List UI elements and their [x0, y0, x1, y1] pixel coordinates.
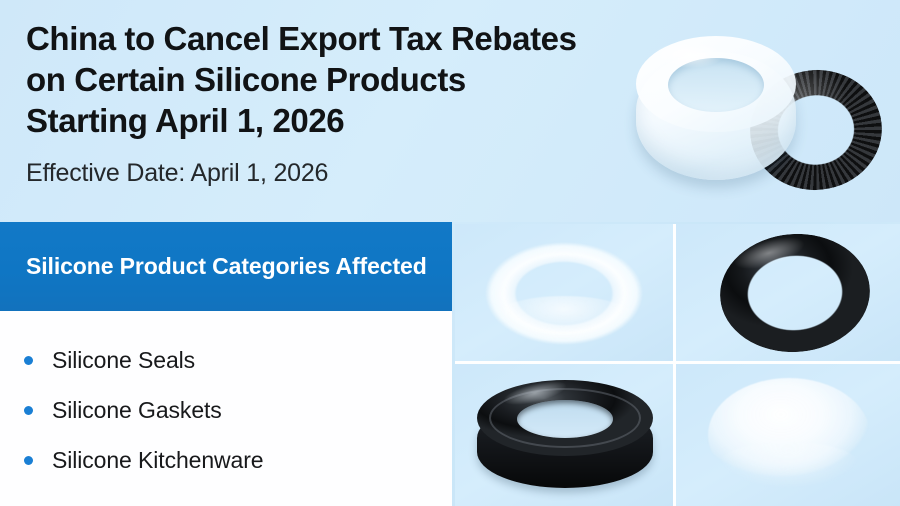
list-item: Silicone Kitchenware: [0, 435, 452, 485]
infographic-banner: China to Cancel Export Tax Rebates on Ce…: [0, 0, 900, 506]
categories-banner-title: Silicone Product Categories Affected: [26, 253, 427, 280]
headline-line-3: Starting April 1, 2026: [26, 100, 646, 141]
headline-line-2: on Certain Silicone Products: [26, 59, 646, 100]
grid-divider-horizontal: [455, 361, 900, 364]
black-oil-seal-image: [477, 380, 653, 492]
product-cell-translucent-silicone-disc: [676, 364, 900, 506]
bullet-dot-icon: [24, 456, 33, 465]
headline-line-1: China to Cancel Export Tax Rebates: [26, 18, 646, 59]
categories-list-panel: Silicone Seals Silicone Gaskets Silicone…: [0, 311, 452, 506]
category-label-gaskets: Silicone Gaskets: [52, 397, 222, 424]
hero-product-photo: [630, 12, 895, 212]
sleeve-highlight: [654, 42, 724, 68]
hero-band: China to Cancel Export Tax Rebates on Ce…: [0, 0, 900, 222]
translucent-silicone-sleeve-image: [636, 36, 796, 184]
oil-seal-bore: [517, 400, 613, 438]
category-label-seals: Silicone Seals: [52, 347, 195, 374]
product-cell-translucent-silicone-ring: [455, 224, 673, 361]
grid-divider-vertical: [673, 224, 676, 506]
list-item: Silicone Gaskets: [0, 385, 452, 435]
categories-banner: Silicone Product Categories Affected: [0, 222, 452, 311]
list-item: Silicone Seals: [0, 335, 452, 385]
product-photo-grid: [455, 224, 900, 506]
bullet-dot-icon: [24, 406, 33, 415]
page-title: China to Cancel Export Tax Rebates on Ce…: [26, 18, 646, 141]
effective-date-text: Effective Date: April 1, 2026: [26, 158, 328, 188]
category-label-kitchenware: Silicone Kitchenware: [52, 447, 264, 474]
translucent-silicone-disc-image: [708, 378, 870, 492]
bullet-dot-icon: [24, 356, 33, 365]
product-cell-black-oil-seal: [455, 364, 673, 506]
product-cell-black-o-ring: [676, 224, 900, 361]
translucent-silicone-ring-image: [485, 242, 643, 345]
